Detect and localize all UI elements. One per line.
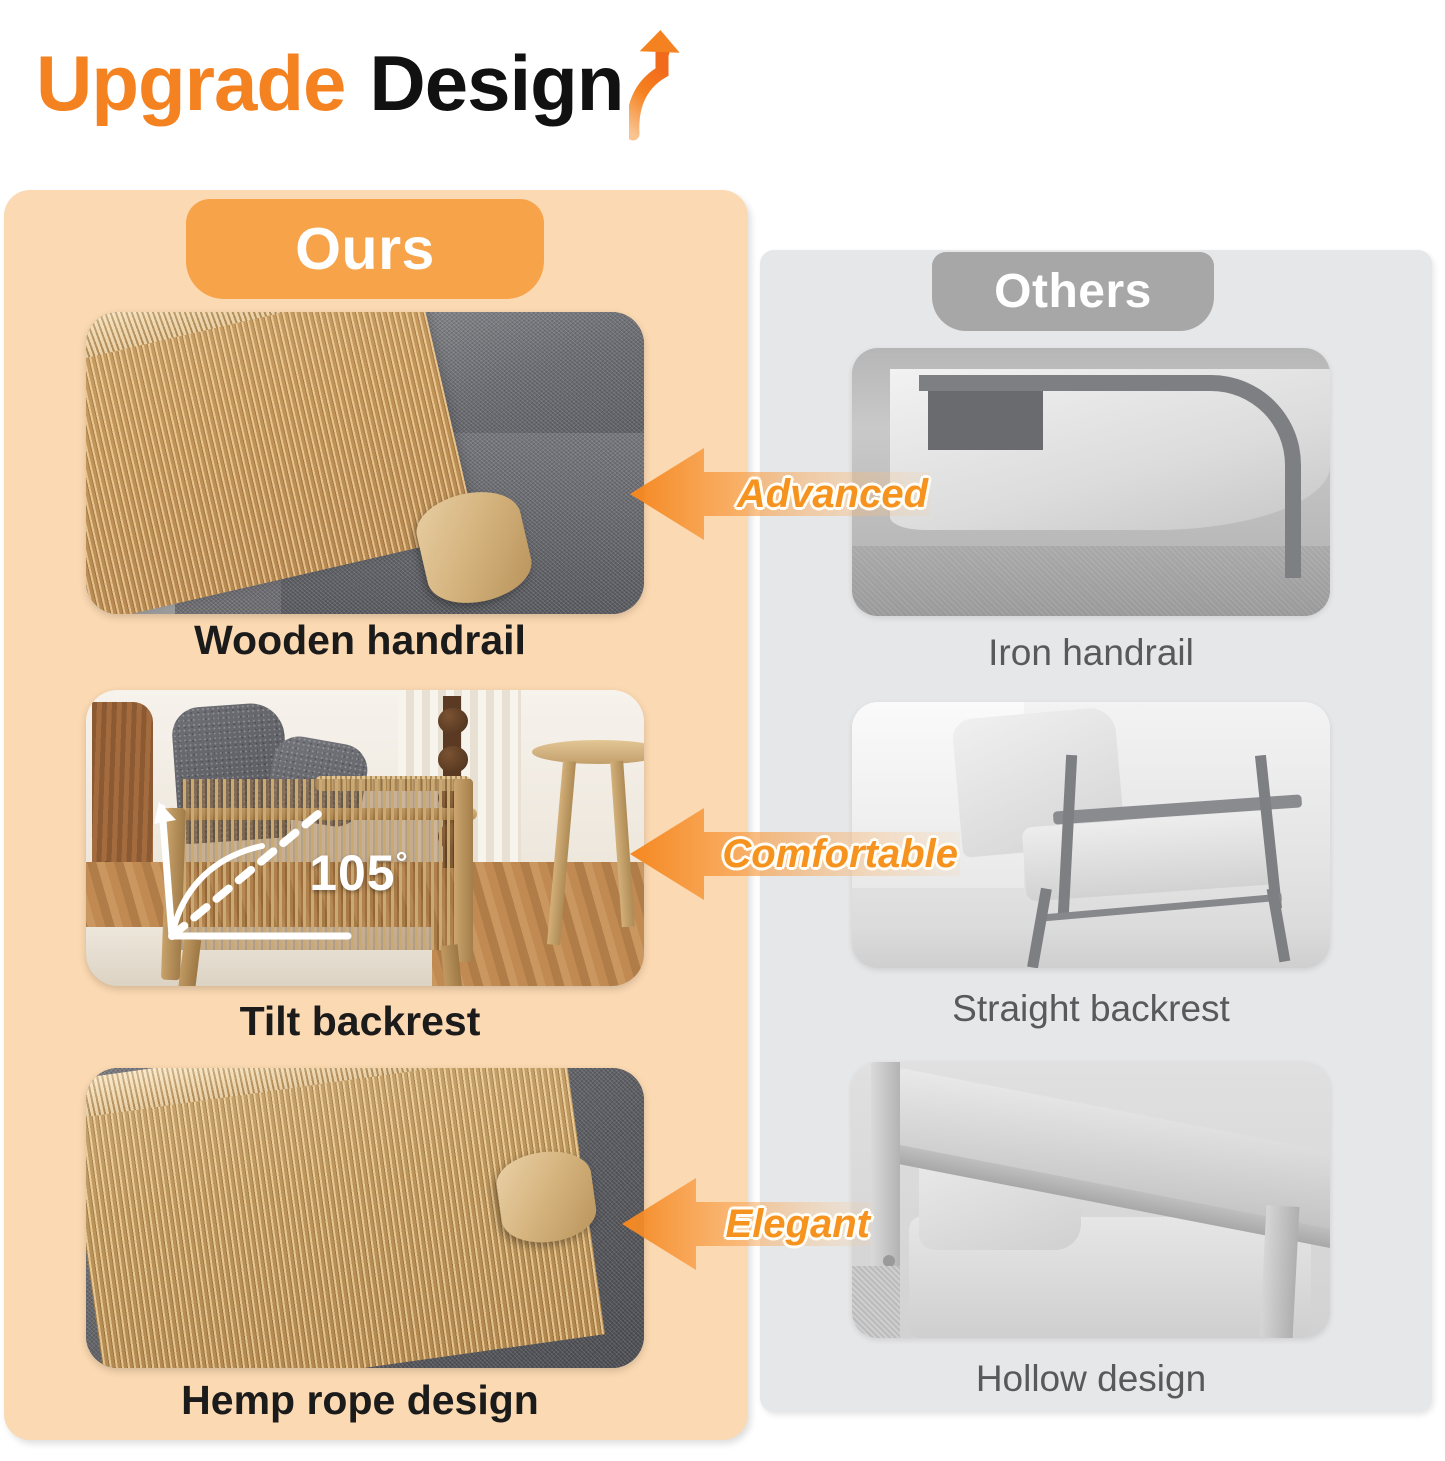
arrow-elegant: Elegant xyxy=(622,1168,872,1280)
arrow-comfortable: Comfortable xyxy=(630,798,960,910)
others-caption-straight-backrest: Straight backrest xyxy=(852,988,1330,1030)
left-arrow-icon xyxy=(622,1168,872,1280)
others-caption-hollow-design: Hollow design xyxy=(852,1358,1330,1400)
left-arrow-icon xyxy=(630,798,960,910)
others-caption-iron-handrail: Iron handrail xyxy=(852,632,1330,674)
ours-caption-hemp-rope-design: Hemp rope design xyxy=(40,1377,680,1424)
ours-caption-tilt-backrest: Tilt backrest xyxy=(40,998,680,1045)
left-arrow-icon xyxy=(630,438,930,550)
curved-up-arrow-icon xyxy=(629,22,691,153)
arrow-advanced: Advanced xyxy=(630,438,930,550)
ours-feature-image-wooden-handrail xyxy=(86,312,644,614)
angle-value: 105° xyxy=(309,844,408,902)
angle-annotation-icon xyxy=(86,690,644,986)
ours-badge: Ours xyxy=(186,199,544,299)
page-title-design: Design xyxy=(369,44,623,122)
ours-caption-wooden-handrail: Wooden handrail xyxy=(40,617,680,664)
page-title-upgrade: Upgrade xyxy=(36,44,345,122)
others-badge: Others xyxy=(932,252,1214,331)
others-feature-image-hollow-design xyxy=(852,1062,1330,1338)
ours-feature-image-hemp-rope-design xyxy=(86,1068,644,1368)
ours-feature-image-tilt-backrest: 105° xyxy=(86,690,644,986)
page-header: Upgrade Design xyxy=(36,44,691,153)
